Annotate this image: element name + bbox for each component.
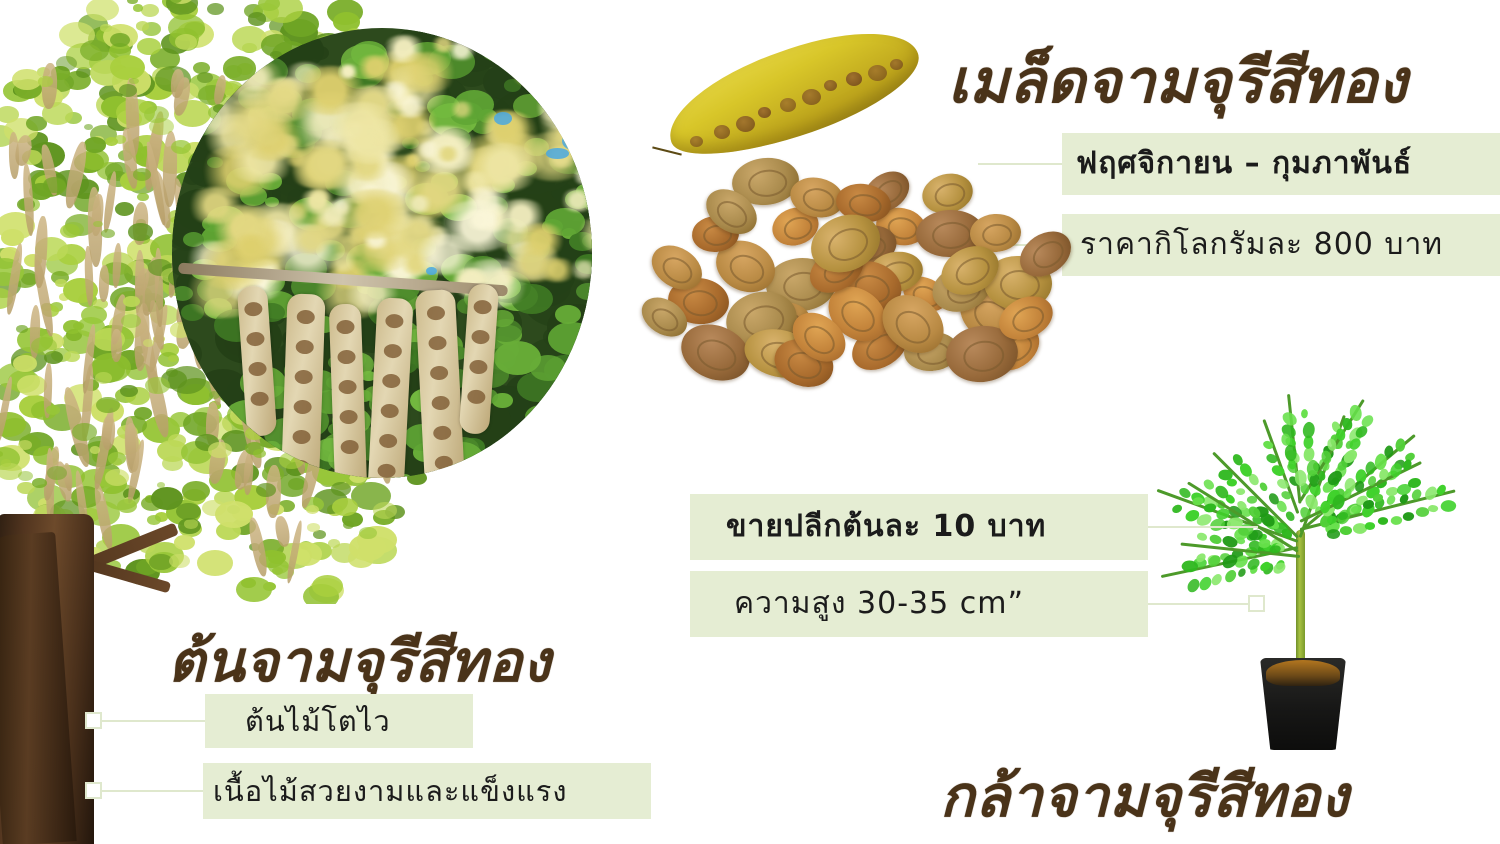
- seedling-photo: [1120, 340, 1490, 760]
- seedling-leaflet: [1428, 504, 1439, 514]
- seedling-leaflet: [1385, 486, 1397, 495]
- callout-height: ความสูง 30-35 cm”: [690, 571, 1148, 637]
- pod-seed-bump: [802, 89, 821, 105]
- seedling-leaflet: [1299, 408, 1309, 419]
- seedling-leaflet: [1285, 510, 1296, 522]
- pod-seed-bump: [758, 107, 771, 118]
- hanging-pod: [329, 303, 368, 478]
- seedling-leaflet: [1326, 528, 1341, 541]
- connector-square-strong: [85, 782, 102, 799]
- pod-seed-bump: [868, 65, 887, 81]
- heading-seedling: กล้าจามจุรีสีทอง: [940, 752, 1349, 842]
- seedling-leaflet: [1235, 567, 1247, 579]
- seedling-leaflet: [1209, 532, 1224, 546]
- pod-seed-bump: [780, 98, 796, 112]
- seedling-leaflet: [1402, 510, 1415, 521]
- connector-square-height: [1248, 595, 1265, 612]
- seedling-leaflet: [1339, 525, 1352, 537]
- callout-strong-wood: เนื้อไม้สวยงามและแข็งแรง: [203, 763, 651, 819]
- callout-season: ฟฤศจิกายน – กุมภาพันธ์: [1062, 133, 1500, 195]
- seedling-leaflet: [1235, 487, 1246, 496]
- callout-fast-growing: ต้นไม้โตไว: [205, 694, 473, 748]
- seedling-leaflet: [1222, 568, 1239, 584]
- infographic-canvas: เมล็ดจามจุรีสีทอง ต้นจามจุรีสีทอง กล้าจา…: [0, 0, 1500, 844]
- seedling-leaflet: [1259, 481, 1269, 492]
- pod-seed-bump: [824, 80, 837, 91]
- seedling-leaflet: [1184, 577, 1202, 595]
- connector-line-retail: [1146, 526, 1258, 528]
- seedling-leaflet: [1202, 477, 1215, 491]
- seedling-leaflet: [1272, 561, 1288, 575]
- flower-circle-photo: [172, 28, 592, 478]
- seedling-leaflet: [1215, 508, 1229, 519]
- heading-seed: เมล็ดจามจุรีสีทอง: [948, 34, 1408, 129]
- seedling-leaflet: [1440, 499, 1457, 514]
- seedling-leaflet: [1390, 514, 1403, 525]
- seedling-leaflet: [1408, 478, 1421, 489]
- pod-seed-bump: [890, 59, 903, 70]
- pod-seed-bump: [846, 72, 862, 86]
- hanging-pod: [280, 293, 325, 478]
- seedling-leaflet: [1363, 499, 1375, 508]
- connector-line-fast: [102, 720, 208, 722]
- callout-price: ราคากิโลกรัมละ 800 บาท: [1062, 214, 1500, 276]
- seedling-leaflet: [1172, 504, 1183, 513]
- connector-line-strong: [102, 790, 206, 792]
- connector-line-season: [978, 163, 1064, 165]
- pot-soil: [1266, 660, 1340, 686]
- seedling-leaflet: [1196, 531, 1209, 543]
- seedling-leaflet: [1301, 420, 1318, 439]
- connector-line-height: [1146, 603, 1250, 605]
- callout-retail-price: ขายปลีกต้นละ 10 บาท: [690, 494, 1148, 560]
- connector-square-fast: [85, 712, 102, 729]
- seedling-leaflet: [1377, 516, 1389, 526]
